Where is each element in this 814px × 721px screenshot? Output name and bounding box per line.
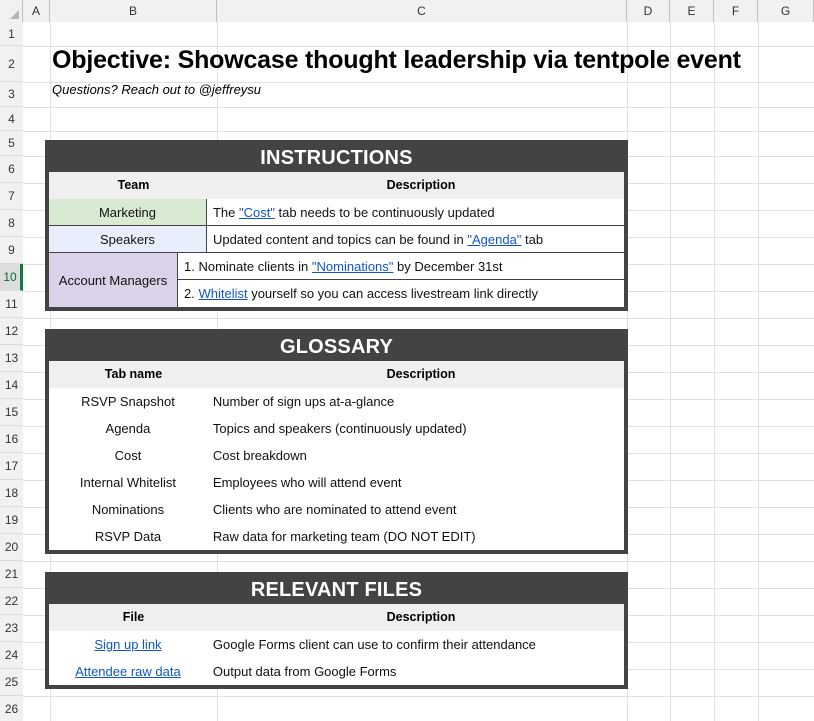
row-header-14[interactable]: 14 bbox=[0, 372, 23, 399]
instructions-col-description: Description bbox=[218, 172, 624, 199]
table-row: CostCost breakdown bbox=[49, 442, 624, 469]
hyperlink[interactable]: "Cost" bbox=[239, 205, 275, 220]
table-row: RSVP SnapshotNumber of sign ups at-a-gla… bbox=[49, 388, 624, 415]
glossary-tab-name-cell[interactable]: Agenda bbox=[49, 415, 207, 442]
text-run: 2. bbox=[184, 286, 198, 301]
column-header-strip: ABCDEFG bbox=[0, 0, 814, 22]
relevant-files-file-cell[interactable]: Attendee raw data bbox=[49, 658, 207, 685]
hyperlink[interactable]: "Nominations" bbox=[312, 259, 394, 274]
glossary-col-description: Description bbox=[218, 361, 624, 388]
column-header-b[interactable]: B bbox=[50, 0, 217, 22]
instructions-team-cell[interactable]: Marketing bbox=[49, 199, 207, 226]
row-header-12[interactable]: 12 bbox=[0, 318, 23, 345]
relevant-files-description-cell[interactable]: Google Forms client can use to confirm t… bbox=[207, 631, 624, 658]
table-row: SpeakersUpdated content and topics can b… bbox=[49, 226, 624, 253]
instructions-description-cell[interactable]: 2. Whitelist yourself so you can access … bbox=[178, 280, 624, 307]
column-header-e[interactable]: E bbox=[670, 0, 714, 22]
glossary-column-headers: Tab name Description bbox=[49, 361, 624, 388]
glossary-description-cell[interactable]: Clients who are nominated to attend even… bbox=[207, 496, 624, 523]
row-header-16[interactable]: 16 bbox=[0, 426, 23, 453]
row-header-strip: 1234567891011121314151617181920212223242… bbox=[0, 22, 23, 721]
glossary-table: GLOSSARY Tab name Description RSVP Snaps… bbox=[45, 329, 628, 554]
hyperlink[interactable]: Attendee raw data bbox=[75, 664, 181, 679]
glossary-description-cell[interactable]: Topics and speakers (continuously update… bbox=[207, 415, 624, 442]
table-row: MarketingThe "Cost" tab needs to be cont… bbox=[49, 199, 624, 226]
glossary-description-cell[interactable]: Cost breakdown bbox=[207, 442, 624, 469]
instructions-col-team: Team bbox=[49, 172, 218, 199]
glossary-tab-name-cell[interactable]: Cost bbox=[49, 442, 207, 469]
row-header-26[interactable]: 26 bbox=[0, 696, 23, 721]
row-header-3[interactable]: 3 bbox=[0, 82, 23, 107]
relevant-files-column-headers: File Description bbox=[49, 604, 624, 631]
text-run: by December 31st bbox=[393, 259, 502, 274]
text-run: 1. Nominate clients in bbox=[184, 259, 312, 274]
relevant-files-banner: RELEVANT FILES bbox=[49, 576, 624, 604]
instructions-banner: INSTRUCTIONS bbox=[49, 144, 624, 172]
text-run: yourself so you can access livestream li… bbox=[248, 286, 538, 301]
row-header-4[interactable]: 4 bbox=[0, 107, 23, 131]
row-header-9[interactable]: 9 bbox=[0, 237, 23, 264]
row-header-8[interactable]: 8 bbox=[0, 210, 23, 237]
grid-hline bbox=[23, 696, 814, 697]
instructions-description-stack: 1. Nominate clients in "Nominations" by … bbox=[178, 253, 624, 307]
row-header-19[interactable]: 19 bbox=[0, 507, 23, 534]
text-run: The bbox=[213, 205, 239, 220]
instructions-team-cell-merged[interactable]: Account Managers bbox=[49, 253, 178, 307]
row-header-1[interactable]: 1 bbox=[0, 22, 23, 46]
row-header-24[interactable]: 24 bbox=[0, 642, 23, 669]
row-header-18[interactable]: 18 bbox=[0, 480, 23, 507]
row-header-11[interactable]: 11 bbox=[0, 291, 23, 318]
instructions-description-cell[interactable]: The "Cost" tab needs to be continuously … bbox=[207, 199, 624, 226]
glossary-description-cell[interactable]: Employees who will attend event bbox=[207, 469, 624, 496]
row-header-6[interactable]: 6 bbox=[0, 156, 23, 183]
select-all-corner[interactable] bbox=[0, 0, 23, 22]
column-header-g[interactable]: G bbox=[758, 0, 814, 22]
table-row: Attendee raw dataOutput data from Google… bbox=[49, 658, 624, 685]
relevant-files-table: RELEVANT FILES File Description Sign up … bbox=[45, 572, 628, 689]
column-header-d[interactable]: D bbox=[627, 0, 670, 22]
glossary-description-cell[interactable]: Number of sign ups at-a-glance bbox=[207, 388, 624, 415]
spreadsheet-canvas: ABCDEFG 12345678910111213141516171819202… bbox=[0, 0, 814, 721]
table-row: Sign up linkGoogle Forms client can use … bbox=[49, 631, 624, 658]
glossary-banner: GLOSSARY bbox=[49, 333, 624, 361]
table-row-merged: Account Managers1. Nominate clients in "… bbox=[49, 253, 624, 307]
row-header-15[interactable]: 15 bbox=[0, 399, 23, 426]
grid-hline bbox=[23, 131, 814, 132]
row-header-2[interactable]: 2 bbox=[0, 46, 23, 82]
page-title: Objective: Showcase thought leadership v… bbox=[52, 46, 741, 75]
glossary-tab-name-cell[interactable]: Internal Whitelist bbox=[49, 469, 207, 496]
row-header-7[interactable]: 7 bbox=[0, 183, 23, 210]
row-header-21[interactable]: 21 bbox=[0, 561, 23, 588]
table-row: AgendaTopics and speakers (continuously … bbox=[49, 415, 624, 442]
table-row: NominationsClients who are nominated to … bbox=[49, 496, 624, 523]
row-header-20[interactable]: 20 bbox=[0, 534, 23, 561]
hyperlink[interactable]: Sign up link bbox=[94, 637, 161, 652]
relevant-files-col-description: Description bbox=[218, 604, 624, 631]
text-run: tab bbox=[521, 232, 543, 247]
glossary-col-tab-name: Tab name bbox=[49, 361, 218, 388]
grid-hline bbox=[23, 318, 814, 319]
table-row: RSVP DataRaw data for marketing team (DO… bbox=[49, 523, 624, 550]
row-header-22[interactable]: 22 bbox=[0, 588, 23, 615]
glossary-tab-name-cell[interactable]: Nominations bbox=[49, 496, 207, 523]
relevant-files-col-file: File bbox=[49, 604, 218, 631]
page-subtitle: Questions? Reach out to @jeffreysu bbox=[52, 82, 261, 97]
select-all-triangle-icon bbox=[10, 10, 19, 19]
row-header-23[interactable]: 23 bbox=[0, 615, 23, 642]
instructions-column-headers: Team Description bbox=[49, 172, 624, 199]
instructions-team-cell[interactable]: Speakers bbox=[49, 226, 207, 253]
glossary-tab-name-cell[interactable]: RSVP Data bbox=[49, 523, 207, 550]
relevant-files-file-cell[interactable]: Sign up link bbox=[49, 631, 207, 658]
column-header-c[interactable]: C bbox=[217, 0, 627, 22]
table-row: Internal WhitelistEmployees who will att… bbox=[49, 469, 624, 496]
text-run: Updated content and topics can be found … bbox=[213, 232, 467, 247]
column-header-f[interactable]: F bbox=[714, 0, 758, 22]
glossary-description-cell[interactable]: Raw data for marketing team (DO NOT EDIT… bbox=[207, 523, 624, 550]
instructions-table: INSTRUCTIONS Team Description MarketingT… bbox=[45, 140, 628, 311]
instructions-description-cell[interactable]: Updated content and topics can be found … bbox=[207, 226, 624, 253]
column-header-a[interactable]: A bbox=[23, 0, 50, 22]
row-header-10[interactable]: 10 bbox=[0, 264, 23, 291]
grid-hline bbox=[23, 561, 814, 562]
instructions-description-cell[interactable]: 1. Nominate clients in "Nominations" by … bbox=[178, 253, 624, 280]
hyperlink[interactable]: Whitelist bbox=[198, 286, 247, 301]
hyperlink[interactable]: "Agenda" bbox=[467, 232, 521, 247]
row-header-5[interactable]: 5 bbox=[0, 131, 23, 156]
glossary-tab-name-cell[interactable]: RSVP Snapshot bbox=[49, 388, 207, 415]
row-header-25[interactable]: 25 bbox=[0, 669, 23, 696]
row-header-17[interactable]: 17 bbox=[0, 453, 23, 480]
relevant-files-description-cell[interactable]: Output data from Google Forms bbox=[207, 658, 624, 685]
grid-hline bbox=[23, 107, 814, 108]
row-header-13[interactable]: 13 bbox=[0, 345, 23, 372]
text-run: tab needs to be continuously updated bbox=[275, 205, 495, 220]
